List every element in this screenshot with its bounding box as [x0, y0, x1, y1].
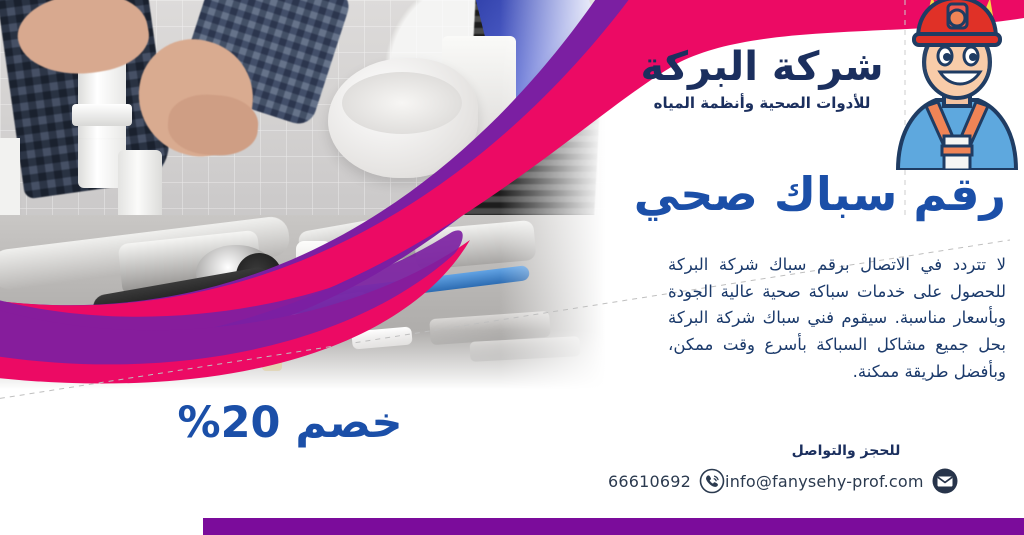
- envelope-icon: [932, 468, 958, 494]
- poster-root: شركة البركة للأدوات الصحية وأنظمة المياه: [0, 0, 1024, 535]
- brand-tagline: للأدوات الصحية وأنظمة المياه: [612, 94, 912, 112]
- contact-email[interactable]: info@fanysehy-prof.com: [725, 468, 958, 494]
- plumber-working-on-pipes-photo: [0, 0, 620, 400]
- discount-badge: خصم 20%: [140, 398, 440, 448]
- tool-brass-fitting-b: [320, 273, 344, 293]
- brand-logo: شركة البركة للأدوات الصحية وأنظمة المياه: [612, 46, 912, 112]
- brand-name: شركة البركة: [612, 46, 912, 88]
- page-title: رقم سباك صحي: [606, 168, 1006, 221]
- content-column: شركة البركة للأدوات الصحية وأنظمة المياه: [556, 0, 1024, 535]
- plumber-mascot-icon: [886, 0, 1024, 170]
- contact-phone[interactable]: 66610692: [608, 468, 725, 494]
- photo-fade-bottom: [0, 330, 620, 400]
- phone-number: 66610692: [608, 472, 691, 491]
- contact-row: 66610692 info@fanysehy-prof.com: [578, 468, 978, 494]
- body-paragraph: لا تتردد في الاتصال برقم سباك شركة البرك…: [668, 252, 1006, 386]
- contact-heading: للحجز والتواصل: [776, 443, 916, 459]
- phone-icon: [699, 468, 725, 494]
- toilet-fixture: [320, 30, 520, 220]
- toilet-rim: [342, 72, 462, 134]
- bottom-accent-bar: [203, 518, 1024, 535]
- pipe-nut: [72, 104, 132, 126]
- email-address: info@fanysehy-prof.com: [725, 472, 924, 491]
